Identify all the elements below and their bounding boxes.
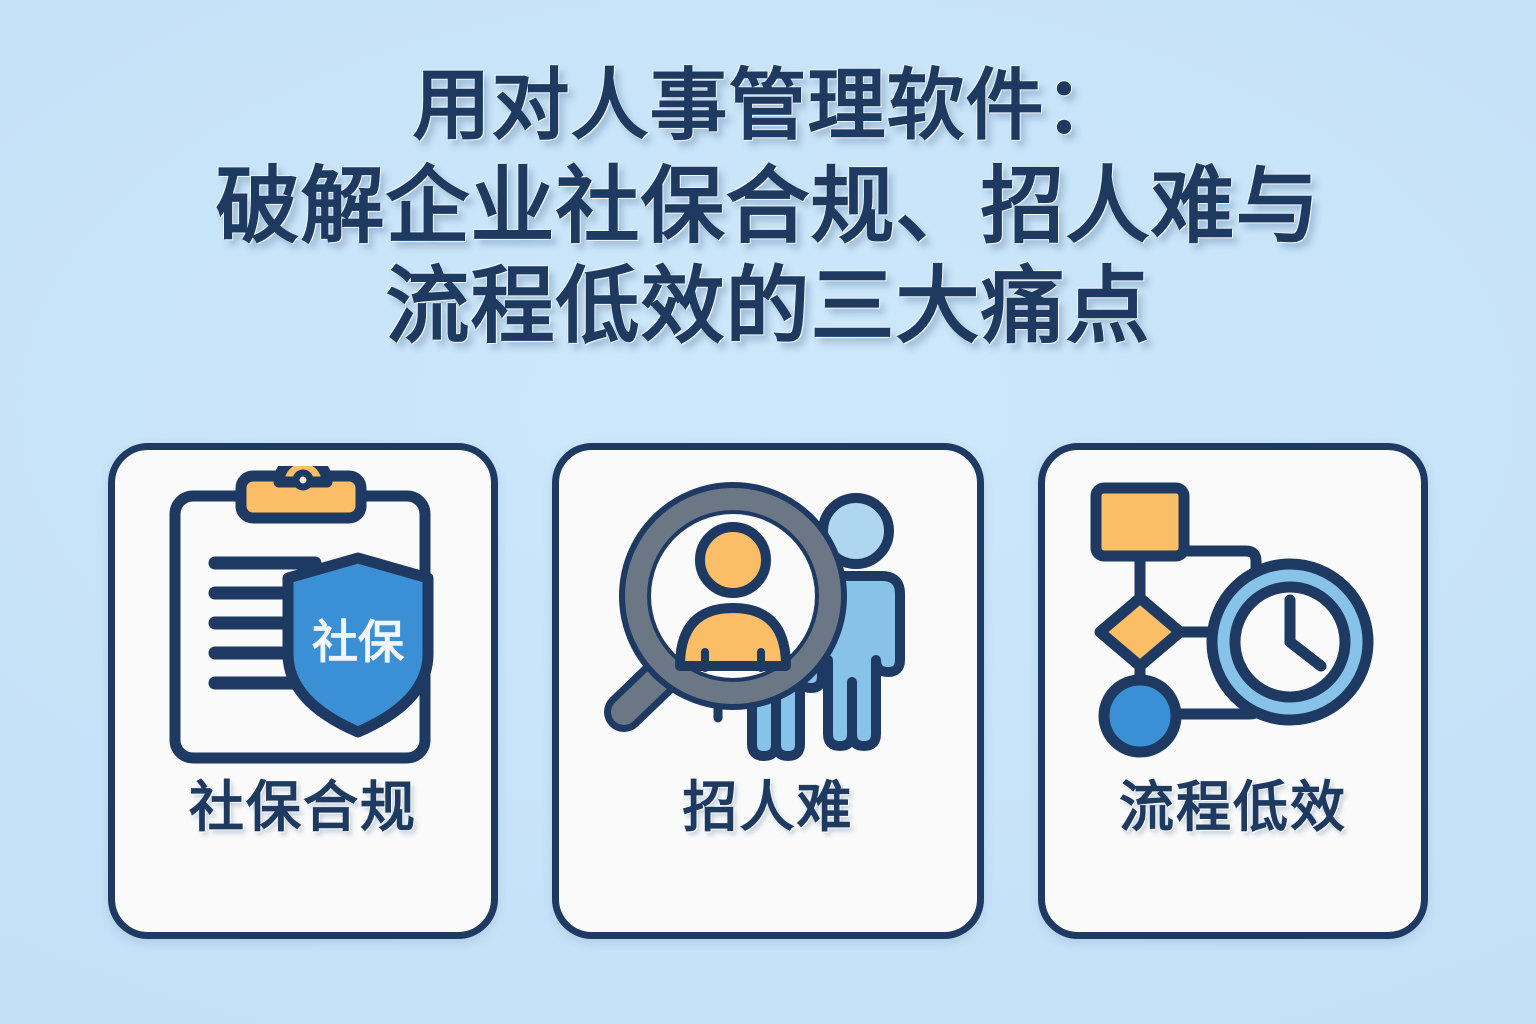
shield-label: 社保 — [312, 616, 405, 668]
magnifier-people-icon — [598, 466, 938, 776]
card-label-process-inefficiency: 流程低效 — [1119, 780, 1347, 835]
poster-canvas: 用对人事管理软件： 破解企业社保合规、招人难与 流程低效的三大痛点 — [0, 0, 1536, 1024]
icon-area — [1045, 450, 1421, 780]
clock-icon — [1212, 564, 1368, 720]
card-social-insurance-compliance[interactable]: 社保 社保合规 — [108, 443, 498, 939]
icon-area: 社保 — [115, 450, 491, 780]
title-line-3: 流程低效的三大痛点 — [0, 264, 1536, 348]
card-label-hiring-difficulty: 招人难 — [682, 780, 853, 835]
clipboard-clip-hole — [296, 473, 310, 487]
flow-node-square — [1096, 488, 1184, 556]
card-hiring-difficulty[interactable]: 招人难 — [552, 443, 984, 939]
pain-point-card-row: 社保 社保合规 — [108, 443, 1428, 939]
card-label-social-insurance-compliance: 社保合规 — [189, 780, 417, 835]
icon-area — [559, 450, 977, 780]
title-line-1: 用对人事管理软件： — [0, 66, 1536, 144]
page-title: 用对人事管理软件： 破解企业社保合规、招人难与 流程低效的三大痛点 — [0, 66, 1536, 348]
flowchart-clock-icon — [1078, 466, 1388, 776]
card-process-inefficiency[interactable]: 流程低效 — [1038, 443, 1428, 939]
flow-node-diamond — [1100, 598, 1180, 666]
title-line-2: 破解企业社保合规、招人难与 — [0, 164, 1536, 248]
shield-badge: 社保 — [288, 558, 428, 732]
person-highlight-body — [680, 608, 786, 666]
clipboard-shield-icon: 社保 — [153, 466, 453, 776]
flow-node-circle — [1104, 680, 1176, 752]
person-highlight-head — [700, 527, 766, 593]
